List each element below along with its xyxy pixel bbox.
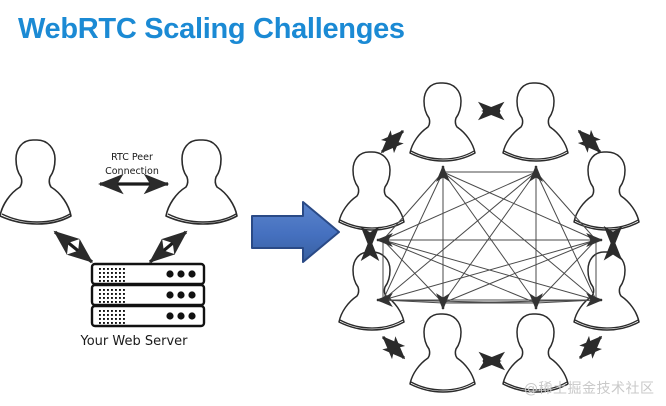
slide-canvas: WebRTC Scaling Challenges bbox=[0, 0, 666, 406]
blue-right-arrow bbox=[252, 202, 339, 262]
avatar-mesh-3 bbox=[574, 152, 639, 230]
avatar-mesh-6 bbox=[410, 314, 475, 392]
avatar-mesh-1 bbox=[410, 83, 475, 161]
connection-peer-right-to-server bbox=[150, 232, 186, 262]
rtc-peer-connection-label-line1: RTC Peer bbox=[111, 152, 153, 163]
avatar-mesh-8 bbox=[339, 152, 404, 230]
web-server-icon bbox=[92, 264, 204, 326]
avatar-peer-right bbox=[166, 140, 237, 224]
watermark: @稀土掘金技术社区 bbox=[524, 378, 655, 398]
avatar-mesh-4 bbox=[574, 252, 639, 330]
rtc-peer-connection-label-line2: Connection bbox=[105, 166, 159, 177]
mesh-edges bbox=[383, 172, 596, 303]
connection-peer-left-to-server bbox=[55, 232, 92, 262]
avatar-mesh-2 bbox=[503, 83, 568, 161]
avatar-peer-left bbox=[0, 140, 71, 224]
web-server-label: Your Web Server bbox=[80, 334, 189, 349]
left-diagram: RTC Peer Connection bbox=[0, 0, 666, 406]
